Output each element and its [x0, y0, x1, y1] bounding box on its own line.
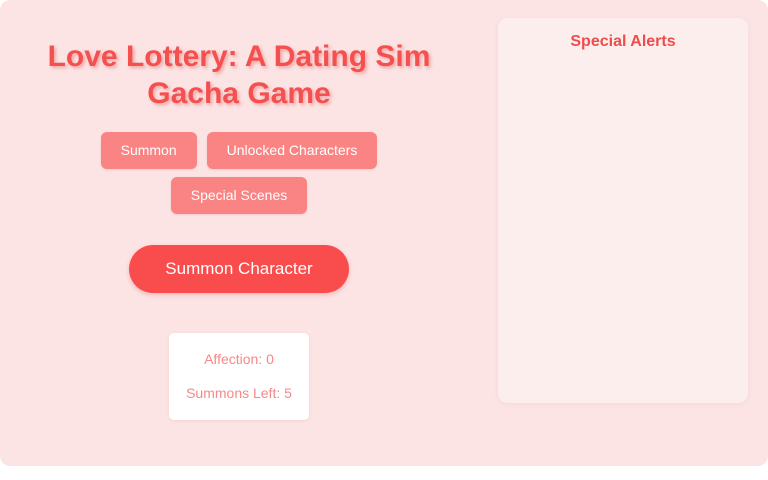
special-alerts-panel: Special Alerts — [498, 18, 748, 403]
nav-button-special-scenes[interactable]: Special Scenes — [171, 177, 308, 214]
page-title: Love Lottery: A Dating Sim Gacha Game — [0, 0, 478, 112]
nav-bar: Summon Unlocked Characters Special Scene… — [0, 132, 478, 214]
summons-left-stat: Summons Left: 5 — [179, 385, 299, 402]
nav-button-summon[interactable]: Summon — [101, 132, 197, 169]
summon-character-button[interactable]: Summon Character — [129, 245, 348, 293]
app-container: Love Lottery: A Dating Sim Gacha Game Su… — [0, 0, 768, 466]
nav-button-unlocked-characters[interactable]: Unlocked Characters — [207, 132, 378, 169]
main-column: Love Lottery: A Dating Sim Gacha Game Su… — [0, 0, 478, 466]
stats-card: Affection: 0 Summons Left: 5 — [169, 333, 309, 420]
stats-row: Affection: 0 Summons Left: 5 — [0, 333, 478, 420]
summon-action-row: Summon Character — [0, 245, 478, 293]
special-alerts-title: Special Alerts — [510, 32, 736, 52]
affection-stat: Affection: 0 — [179, 351, 299, 368]
